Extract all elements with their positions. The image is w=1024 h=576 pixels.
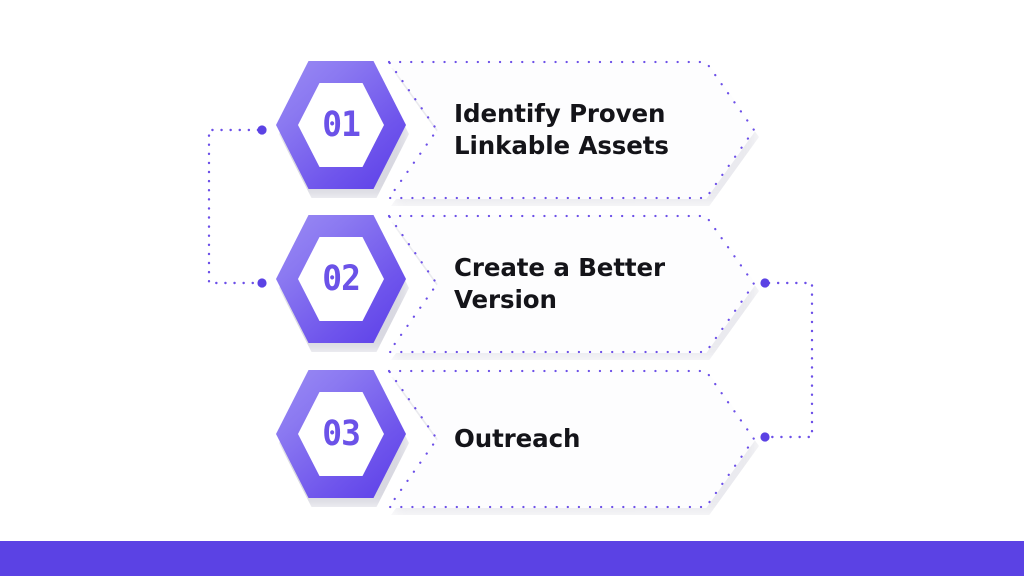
step-text-03: Outreach	[454, 370, 704, 508]
step-number-02: 02	[322, 262, 360, 297]
step-title-line-1: Outreach	[454, 423, 704, 455]
step-banner-03: Outreach	[388, 370, 756, 508]
hexagon-inner: 01	[298, 83, 384, 167]
step-number-03: 03	[322, 417, 360, 452]
step-banner-02: Create a Better Version	[388, 215, 756, 353]
step-hexagon-01: 01	[276, 61, 414, 199]
step-title-line-2: Linkable Assets	[454, 130, 704, 162]
hexagon-inner: 03	[298, 392, 384, 476]
step-text-02: Create a Better Version	[454, 215, 704, 353]
step-title-line-2: Version	[454, 284, 704, 316]
step-title-line-1: Identify Proven	[454, 98, 704, 130]
step-hexagon-02: 02	[276, 215, 414, 353]
step-banner-01: Identify Proven Linkable Assets	[388, 61, 756, 199]
hexagon-inner: 02	[298, 237, 384, 321]
step-row-02: Create a Better Version 02	[0, 209, 1024, 359]
step-row-01: Identify Proven Linkable Assets 01	[0, 55, 1024, 205]
infographic-canvas: Identify Proven Linkable Assets 01 Creat…	[0, 0, 1024, 576]
step-text-01: Identify Proven Linkable Assets	[454, 61, 704, 199]
step-title-line-1: Create a Better	[454, 252, 704, 284]
step-row-03: Outreach 03	[0, 364, 1024, 514]
step-hexagon-03: 03	[276, 370, 414, 508]
step-number-01: 01	[322, 108, 360, 143]
footer-bar	[0, 541, 1024, 576]
